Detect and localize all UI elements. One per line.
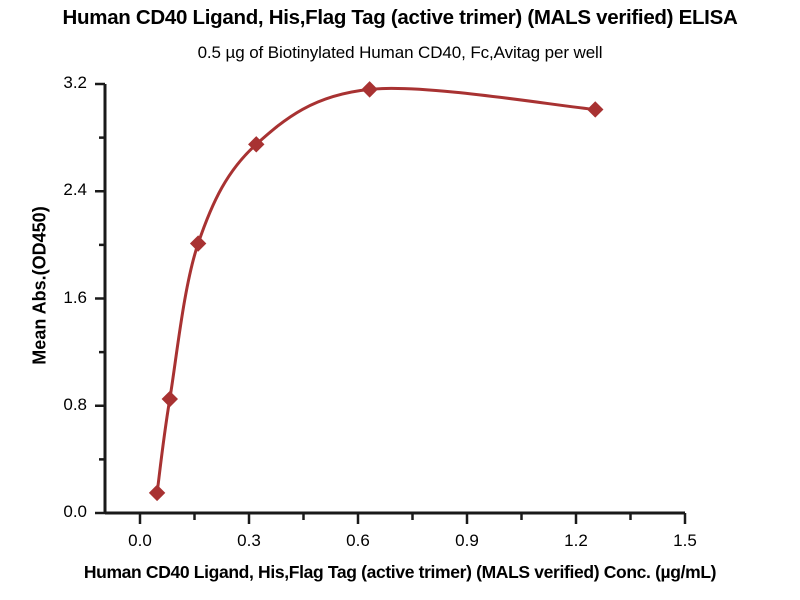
plot-area bbox=[0, 0, 800, 600]
data-point-marker bbox=[588, 102, 603, 117]
x-tick-label: 0.0 bbox=[110, 531, 170, 551]
data-markers bbox=[150, 82, 603, 501]
y-tick-label: 3.2 bbox=[35, 73, 87, 93]
y-tick-label: 1.6 bbox=[35, 288, 87, 308]
x-tick-label: 0.9 bbox=[437, 531, 497, 551]
elisa-chart: Human CD40 Ligand, His,Flag Tag (active … bbox=[0, 0, 800, 600]
x-tick-label: 1.2 bbox=[546, 531, 606, 551]
data-curve bbox=[157, 88, 595, 492]
x-tick-label: 0.3 bbox=[219, 531, 279, 551]
data-point-marker bbox=[162, 392, 177, 407]
x-tick-label: 1.5 bbox=[655, 531, 715, 551]
x-tick-label: 0.6 bbox=[328, 531, 388, 551]
axis-lines bbox=[105, 84, 685, 513]
data-point-marker bbox=[362, 82, 377, 97]
y-tick-label: 2.4 bbox=[35, 180, 87, 200]
series-line-0 bbox=[157, 88, 595, 492]
data-point-marker bbox=[191, 236, 206, 251]
data-point-marker bbox=[150, 485, 165, 500]
y-tick-label: 0.0 bbox=[35, 502, 87, 522]
y-tick-label: 0.8 bbox=[35, 395, 87, 415]
